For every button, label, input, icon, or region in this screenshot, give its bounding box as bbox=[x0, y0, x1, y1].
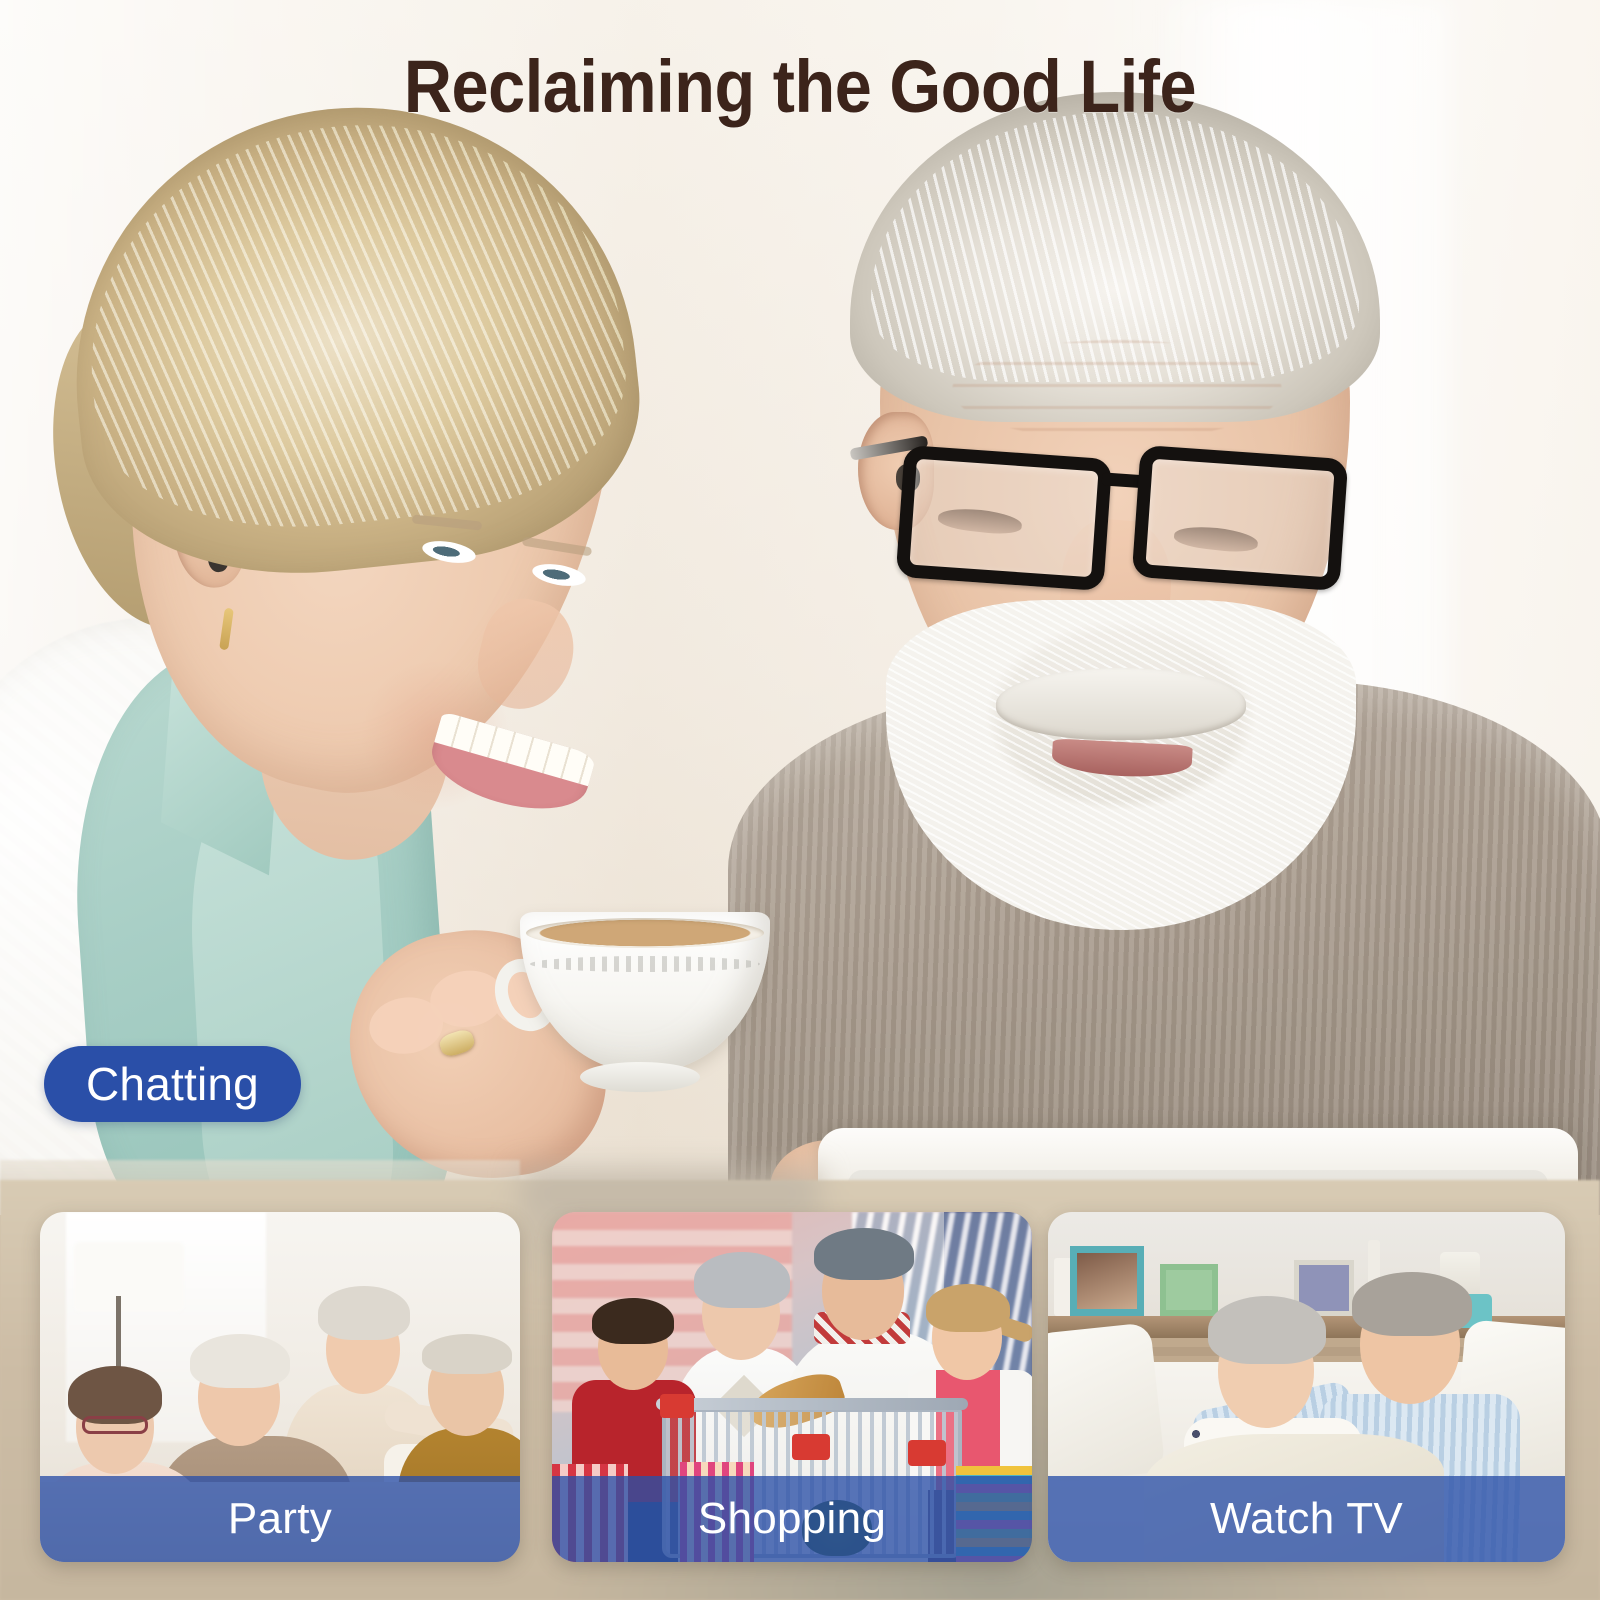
poster-canvas: Reclaiming the Good Life Chatting bbox=[0, 0, 1600, 1600]
card-party[interactable]: Party bbox=[40, 1212, 520, 1562]
glasses-lens-right bbox=[1132, 445, 1349, 591]
hair bbox=[190, 1334, 290, 1388]
shopping-cart-handle bbox=[656, 1398, 968, 1410]
eyeglasses-icon bbox=[82, 1416, 148, 1434]
card-label-party: Party bbox=[40, 1476, 520, 1562]
card-label-shopping: Shopping bbox=[552, 1476, 1032, 1562]
page-title: Reclaiming the Good Life bbox=[80, 44, 1520, 129]
chatting-badge[interactable]: Chatting bbox=[44, 1046, 301, 1122]
glasses-lens-left bbox=[896, 445, 1113, 591]
party-lampshade bbox=[74, 1242, 184, 1312]
hair bbox=[694, 1252, 790, 1308]
man-forehead-lines bbox=[952, 340, 1282, 440]
hair bbox=[814, 1228, 914, 1280]
cart-corner-marker bbox=[660, 1394, 694, 1418]
sofa-pillow-left bbox=[1048, 1322, 1166, 1484]
eyeglasses-icon bbox=[848, 430, 1408, 605]
hair bbox=[1352, 1272, 1472, 1336]
picture-frame-icon bbox=[1070, 1246, 1144, 1316]
hair bbox=[926, 1284, 1010, 1332]
card-watch-tv[interactable]: Watch TV bbox=[1048, 1212, 1565, 1562]
card-shopping[interactable]: Shopping bbox=[552, 1212, 1032, 1562]
man-mustache bbox=[996, 668, 1246, 740]
cart-corner-marker bbox=[908, 1440, 946, 1466]
hair bbox=[1208, 1296, 1326, 1364]
cart-corner-marker bbox=[792, 1434, 830, 1460]
hair bbox=[592, 1298, 674, 1344]
teacup-foot bbox=[580, 1062, 700, 1092]
senior-man-figure bbox=[700, 40, 1600, 1215]
woman-hair bbox=[49, 80, 654, 596]
hair bbox=[422, 1334, 512, 1374]
card-label-watch-tv: Watch TV bbox=[1048, 1476, 1565, 1562]
hero-photo bbox=[0, 0, 1600, 1215]
feature-card-row: Party bbox=[0, 1212, 1600, 1562]
